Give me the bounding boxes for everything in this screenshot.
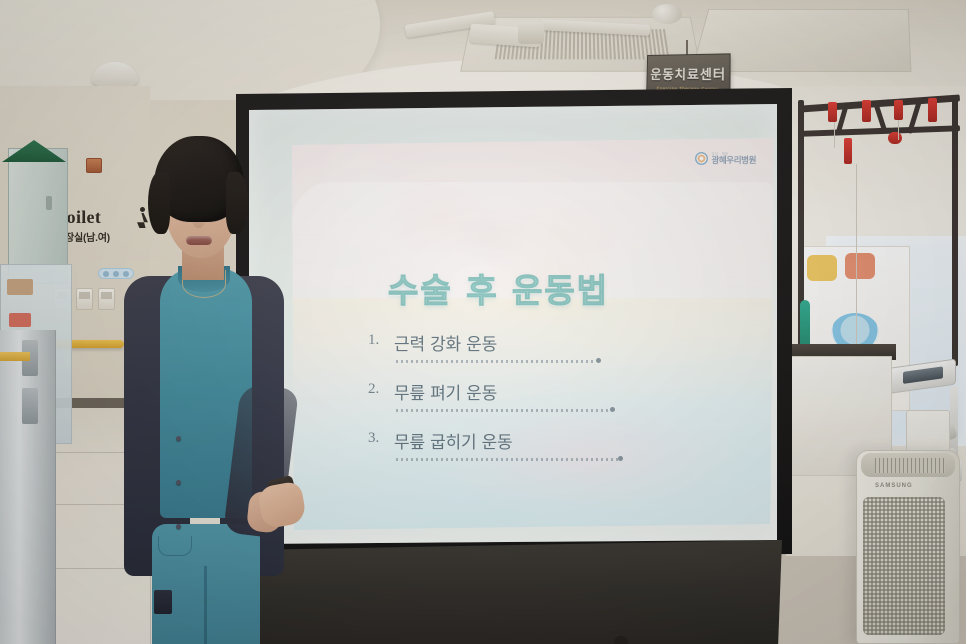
list-item: 3. 무릎 굽히기 운동 (368, 428, 708, 477)
presentation-room-photo: Toilet 화장실(남.여) (0, 0, 966, 644)
list-item-text: 무릎 펴기 운동 (394, 379, 497, 404)
list-item-rule (396, 458, 618, 461)
ceiling-fan-hub (518, 22, 544, 44)
list-item-number: 1. (368, 332, 388, 349)
screen-foot-knob (614, 636, 628, 644)
screen-base-casing (246, 540, 782, 644)
cardigan-button (176, 436, 181, 441)
screen-surface: 강남 · 목동 광혜우리병원 수술 후 운동법 1. 근력 강화 운동 2. 무… (249, 104, 777, 544)
list-item: 2. 무릎 펴기 운동 (368, 379, 708, 428)
list-item-end-dot (610, 407, 615, 412)
list-item-end-dot (596, 358, 601, 363)
sling-handle[interactable] (844, 138, 852, 164)
portable-projector-screen: 강남 · 목동 광혜우리병원 수술 후 운동법 1. 근력 강화 운동 2. 무… (236, 88, 792, 644)
rig-upright (952, 96, 958, 366)
slide-title: 수술 후 운동법 (388, 264, 609, 312)
ceiling-speaker (652, 4, 682, 24)
door-hinge (22, 388, 38, 424)
list-item-rule (396, 409, 610, 412)
metal-door-column (0, 330, 56, 644)
list-item-end-dot (618, 456, 623, 461)
sling-strap[interactable] (862, 100, 871, 122)
fire-alarm-icon (86, 158, 102, 173)
cardigan-button (176, 524, 181, 529)
list-item-text: 근력 강화 운동 (394, 330, 497, 355)
sling-strap[interactable] (894, 100, 903, 120)
purifier-vent (875, 458, 945, 473)
treadmill-display (903, 366, 943, 384)
sling-strap[interactable] (828, 102, 837, 122)
hair-sideburn-left (148, 172, 170, 234)
hair-sideburn-right (226, 172, 248, 234)
id-badge (154, 590, 172, 614)
slide-hospital-logo: 강남 · 목동 광혜우리병원 (695, 152, 756, 165)
projected-slide: 강남 · 목동 광혜우리병원 수술 후 운동법 1. 근력 강화 운동 2. 무… (292, 138, 774, 530)
list-item-rule (396, 360, 596, 363)
thermostat[interactable] (76, 288, 93, 310)
sling-handle[interactable] (888, 132, 902, 144)
cabinet-handle[interactable] (46, 196, 52, 210)
presenter (108, 136, 308, 644)
samsung-air-purifier: SAMSUNG (856, 450, 960, 644)
pants-seam (204, 566, 207, 644)
list-item: 1. 근력 강화 운동 (368, 330, 708, 379)
sling-strap[interactable] (928, 98, 937, 122)
mouth (186, 236, 212, 245)
orange-trim-strip (0, 352, 30, 361)
hospital-logo-icon (695, 152, 708, 165)
scrubs-pocket (158, 536, 192, 556)
logo-name: 광혜우리병원 (711, 156, 756, 165)
slide-agenda-list: 1. 근력 강화 운동 2. 무릎 펴기 운동 3. 무릎 굽히기 운동 (368, 330, 708, 477)
cardigan-button (176, 480, 181, 485)
purifier-top-panel[interactable] (861, 453, 955, 477)
list-item-text: 무릎 굽히기 운동 (394, 428, 513, 453)
list-item-number: 2. (368, 381, 388, 398)
purifier-brand-label: SAMSUNG (875, 483, 913, 489)
list-item-number: 3. (368, 430, 388, 447)
purifier-intake-grille (863, 497, 945, 635)
ceiling-sign-korean: 운동치료센터 (650, 63, 726, 83)
